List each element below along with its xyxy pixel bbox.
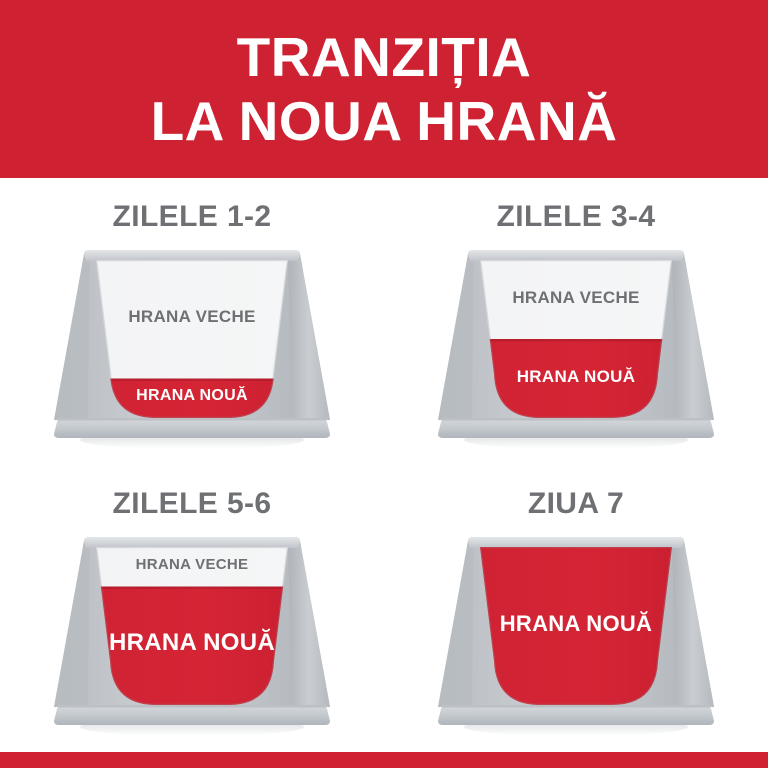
bowl-shell-right: [288, 252, 330, 420]
bottom-accent-strip: [0, 752, 768, 768]
bowl-base: [438, 418, 714, 438]
bowl-base: [54, 418, 330, 438]
bowl-shell-left: [438, 251, 474, 420]
panel-label: ZILELE 1-2: [112, 200, 271, 234]
bowl-base-seam: [58, 418, 326, 421]
panel-days-3-4: ZILELE 3-4: [384, 178, 768, 465]
bowl-base-seam: [58, 705, 326, 708]
page-title-line-2: LA NOUA HRANĂ: [151, 89, 618, 153]
bowl-days-3-4: HRANA VECHE HRANA NOUĂ: [428, 240, 724, 456]
bowl-graphic: [428, 240, 724, 456]
bowl-shell-right: [672, 252, 714, 420]
bowl-graphic: [428, 527, 724, 743]
page-title-line-1: TRANZIȚIA: [237, 25, 532, 89]
bowl-shell-left: [54, 251, 90, 420]
panel-label: ZIUA 7: [528, 487, 624, 521]
bowl-days-5-6: HRANA VECHE HRANA NOUĂ: [44, 527, 340, 743]
panel-days-5-6: ZILELE 5-6: [0, 465, 384, 752]
panel-days-1-2: ZILELE 1-2: [0, 178, 384, 465]
bowl-graphic: [44, 527, 340, 743]
bowl-shell-right: [672, 539, 714, 707]
header-banner: TRANZIȚIA LA NOUA HRANĂ: [0, 0, 768, 178]
bowl-rim: [468, 250, 684, 261]
panel-label: ZILELE 3-4: [496, 200, 655, 234]
bowl-base: [438, 705, 714, 725]
panel-grid: ZILELE 1-2: [0, 178, 768, 752]
bowl-rim: [84, 537, 300, 548]
bowl-base: [54, 705, 330, 725]
bowl-base-seam: [442, 705, 710, 708]
bowl-rim: [468, 537, 684, 548]
bowl-shell-left: [438, 538, 474, 707]
panel-day-7: ZIUA 7: [384, 465, 768, 752]
bowl-base-seam: [442, 418, 710, 421]
bowl-day-7: HRANA VECHE HRANA NOUĂ: [428, 527, 724, 743]
bowl-days-1-2: HRANA VECHE HRANA NOUĂ: [44, 240, 340, 456]
panel-label: ZILELE 5-6: [112, 487, 271, 521]
bowl-graphic: [44, 240, 340, 456]
transition-infographic: TRANZIȚIA LA NOUA HRANĂ ZILELE 1-2: [0, 0, 768, 768]
bowl-shell-right: [288, 539, 330, 707]
bowl-shell-left: [54, 538, 90, 707]
bowl-rim: [84, 250, 300, 261]
